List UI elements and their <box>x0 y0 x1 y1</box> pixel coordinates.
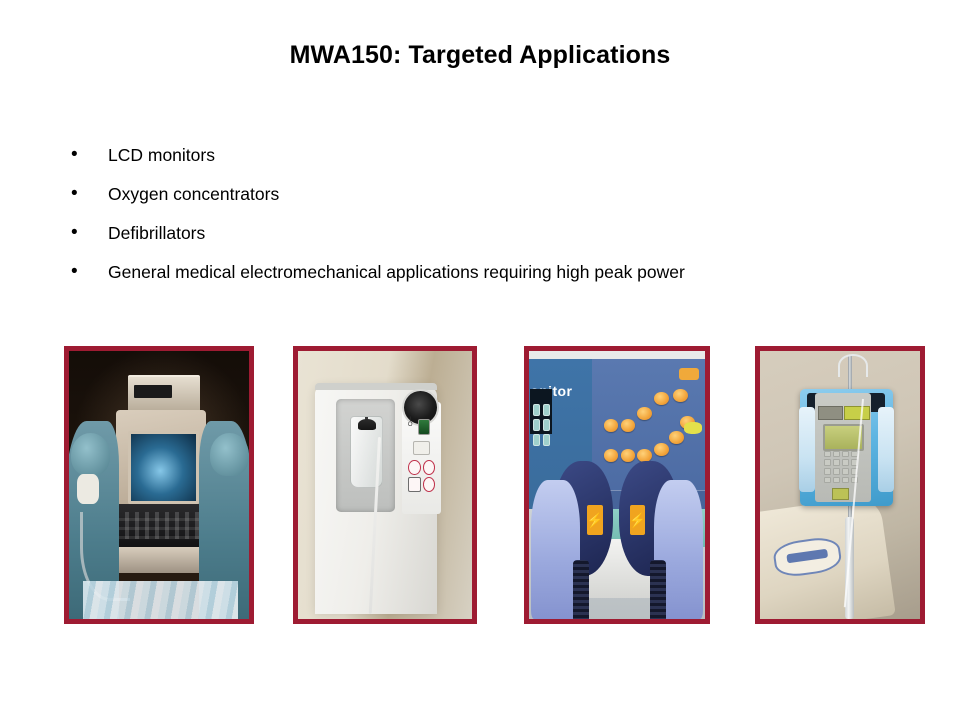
bullet-label: Defibrillators <box>108 223 205 243</box>
photo-content: onitor <box>529 351 705 619</box>
patient-drape <box>83 581 238 619</box>
energy-select-display <box>679 368 699 380</box>
pump-key <box>824 459 831 466</box>
surgical-mask <box>77 474 99 504</box>
pump-key <box>833 477 840 484</box>
ultrasound-lcd-monitor-photo <box>64 346 254 624</box>
warning-label-group <box>408 460 435 492</box>
pump-cassette-left <box>799 407 815 492</box>
pump-key <box>833 468 840 475</box>
monitor-softkey-group <box>533 404 550 446</box>
pump-key <box>824 468 831 475</box>
energy-button <box>604 419 619 432</box>
monitor-softkey <box>543 404 550 416</box>
list-item: • Oxygen concentrators <box>64 184 894 223</box>
list-item: • LCD monitors <box>64 145 894 184</box>
hour-meter <box>413 441 431 455</box>
pump-display-left <box>818 406 843 420</box>
pump-key <box>842 477 849 484</box>
bullet-dot-icon: • <box>64 145 108 165</box>
surgical-cap <box>210 433 249 477</box>
paddle-cord-left <box>573 560 589 619</box>
pump-key <box>842 451 849 458</box>
shock-button-icon: ⚡ <box>630 505 646 535</box>
monitor-softkey <box>543 419 550 431</box>
photo-content: I O <box>298 351 472 619</box>
bed-control-panel <box>772 535 844 579</box>
bullet-label: LCD monitors <box>108 145 215 165</box>
list-item: • Defibrillators <box>64 223 894 262</box>
infusion-pump-unit <box>800 389 893 507</box>
page-title: MWA150: Targeted Applications <box>0 42 960 70</box>
bullet-dot-icon: • <box>64 223 108 243</box>
pump-key <box>842 468 849 475</box>
energy-button <box>654 443 669 456</box>
energy-button <box>637 449 652 462</box>
energy-button <box>621 449 636 462</box>
paddle-cord-right <box>650 560 666 619</box>
energy-button <box>654 392 669 405</box>
caution-warning-icon <box>408 477 420 492</box>
pump-key <box>833 451 840 458</box>
no-oil-warning-icon <box>423 477 435 492</box>
bullet-dot-icon: • <box>64 184 108 204</box>
list-item: • General medical electromechanical appl… <box>64 262 894 301</box>
pump-key <box>824 451 831 458</box>
hospital-bed <box>760 495 896 619</box>
bullet-label: General medical electromechanical applic… <box>108 262 685 282</box>
energy-button <box>604 449 619 462</box>
sync-button <box>684 422 702 434</box>
iv-pole-hook <box>838 354 868 377</box>
power-switch <box>418 419 430 434</box>
pump-key <box>842 459 849 466</box>
bottle-cap <box>358 419 376 430</box>
pump-status-display <box>832 488 850 500</box>
oxygen-concentrator-photo: I O <box>293 346 477 624</box>
energy-button <box>637 407 652 420</box>
no-smoking-warning-icon <box>408 460 420 475</box>
humidifier-recess <box>336 399 395 512</box>
bullet-list: • LCD monitors • Oxygen concentrators • … <box>64 145 894 301</box>
energy-button <box>669 431 684 444</box>
monitor-softkey <box>533 434 540 446</box>
pump-cassette-right <box>878 407 894 492</box>
monitor-softkey <box>543 434 550 446</box>
energy-button <box>673 389 688 402</box>
photo-content <box>760 351 920 619</box>
slide-root: MWA150: Targeted Applications • LCD moni… <box>0 0 960 720</box>
energy-button <box>621 419 636 432</box>
photo-content <box>69 351 249 619</box>
defibrillator-photo: onitor <box>524 346 710 624</box>
pump-keypad <box>824 451 859 484</box>
bullet-dot-icon: • <box>64 262 108 282</box>
pump-key <box>833 459 840 466</box>
shock-button-icon: ⚡ <box>587 505 603 535</box>
monitor-softkey <box>533 404 540 416</box>
surgical-cap <box>71 433 110 477</box>
ultrasound-top-unit <box>128 375 200 415</box>
power-io-label: I O <box>407 418 414 434</box>
pump-key <box>824 477 831 484</box>
infusion-pump-photo <box>755 346 925 624</box>
monitor-softkey <box>533 419 540 431</box>
pump-display-right <box>844 406 869 420</box>
ultrasound-screen <box>128 431 199 504</box>
bullet-label: Oxygen concentrators <box>108 184 279 204</box>
no-flame-warning-icon <box>423 460 435 475</box>
